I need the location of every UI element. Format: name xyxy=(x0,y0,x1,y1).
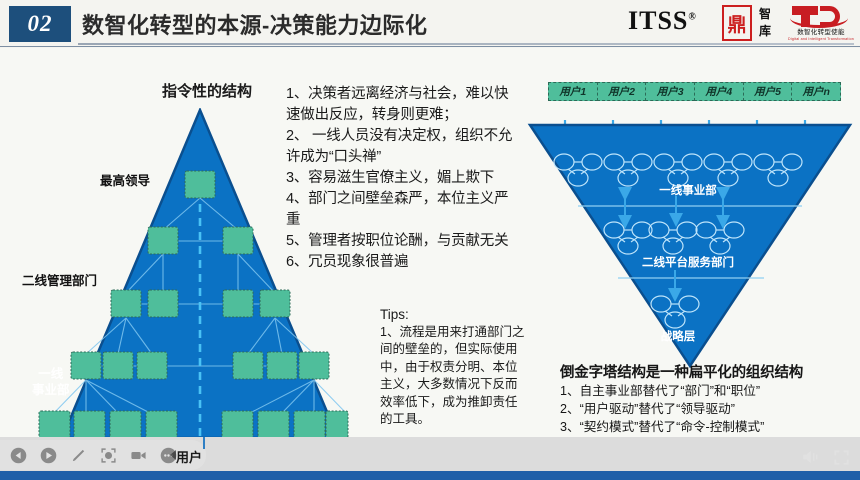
playhead-marker[interactable] xyxy=(203,437,205,449)
inverted-label-platform-service: 二线平台服务部门 xyxy=(608,254,768,270)
td-logo: 数智化转型使能 Digital and Intelligent Transfor… xyxy=(788,4,854,44)
zhiku-char-bottom: 库 xyxy=(759,23,771,40)
user-box: 用户2 xyxy=(597,82,647,101)
player-right-controls[interactable] xyxy=(801,448,850,466)
user-box: 用户n xyxy=(791,82,841,101)
td-logo-cn-text: 数智化转型使能 xyxy=(788,29,854,37)
pyramid-node xyxy=(233,352,263,379)
problem-list: 1、决策者远离经济与社会，难以快速做出反应，转身则更难； 2、 一线人员没有决定… xyxy=(286,84,518,273)
pyramid-node xyxy=(326,411,348,438)
video-progress-bar[interactable] xyxy=(0,471,860,480)
itss-logo: ITSS® xyxy=(628,6,697,36)
users-row: 用户1 用户2 用户3 用户4 用户5 用户n xyxy=(548,82,840,101)
tips-heading: Tips: xyxy=(380,306,525,324)
pyramid-label-second-line-mgmt: 二线管理部门 xyxy=(22,270,97,289)
volume-icon[interactable] xyxy=(801,448,819,466)
pyramid-node xyxy=(148,227,178,254)
user-box: 用户5 xyxy=(743,82,793,101)
pyramid-node xyxy=(148,290,178,317)
description-heading: 倒金字塔结构是一种扁平化的组织结构 xyxy=(560,364,860,382)
screenshot-button[interactable] xyxy=(100,447,117,464)
problem-list-item: 5、管理者按职位论酬，与贡献无关 xyxy=(286,231,518,252)
zhiku-char-top: 智 xyxy=(759,6,771,23)
tips-block: Tips: 1、流程是用来打通部门之间的壁垒的，但实际使用中，由于权责分明、本位… xyxy=(380,306,525,429)
problem-list-item: 1、决策者远离经济与社会，难以快速做出反应，转身则更难； xyxy=(286,84,518,126)
pyramid-node xyxy=(185,171,215,198)
td-mark-icon xyxy=(788,4,854,29)
rewind-button[interactable] xyxy=(10,447,27,464)
pyramid-node xyxy=(111,290,141,317)
itss-logo-text: ITSS xyxy=(628,6,688,35)
inverted-label-strategy: 战略层 xyxy=(628,328,728,344)
problem-list-item: 6、冗员现象很普遍 xyxy=(286,252,518,273)
player-label: 用户 xyxy=(176,447,202,466)
pyramid-node xyxy=(222,411,253,438)
td-logo-en-text: Digital and Intelligent Transformation xyxy=(788,37,854,41)
pyramid-node xyxy=(223,227,253,254)
user-box: 用户3 xyxy=(645,82,695,101)
description-item: 2、“用户驱动”替代了“领导驱动” xyxy=(560,400,860,418)
record-button[interactable] xyxy=(130,447,147,464)
page-title: 数智化转型的本源-决策能力边际化 xyxy=(82,8,427,40)
pyramid-node xyxy=(258,411,289,438)
description-item: 1、自主事业部替代了“部门”和“职位” xyxy=(560,382,860,400)
seal-icon: 鼎 xyxy=(722,5,752,41)
registered-mark-icon: ® xyxy=(688,11,696,22)
pyramid-node xyxy=(294,411,325,438)
inverted-label-frontline: 一线事业部 xyxy=(628,182,748,198)
pyramid-label-frontline-line1: 一线 xyxy=(32,366,70,382)
pyramid-node xyxy=(223,290,253,317)
play-button[interactable] xyxy=(40,447,57,464)
slide-screenshot: 02 数智化转型的本源-决策能力边际化 ITSS® 鼎 智 库 数智化转型使能 … xyxy=(0,0,860,480)
pyramid-node xyxy=(267,352,297,379)
header-divider-secondary xyxy=(0,46,860,47)
description-item: 3、“契约模式”替代了“命令-控制模式” xyxy=(560,418,860,436)
pyramid-label-frontline-line2: 事业部 xyxy=(32,382,70,398)
pyramid-node xyxy=(103,352,133,379)
inverted-pyramid-diagram: 一线事业部 二线平台服务部门 战略层 xyxy=(520,120,860,370)
problem-list-item: 3、容易滋生官僚主义，媚上欺下 xyxy=(286,168,518,189)
problem-list-item: 2、 一线人员没有决定权，组织不允许成为“口头禅” xyxy=(286,126,518,168)
user-box: 用户4 xyxy=(694,82,744,101)
zhiku-logo: 鼎 智 库 xyxy=(722,5,780,41)
pyramid-level-1 xyxy=(185,171,215,198)
pyramid-node xyxy=(299,352,329,379)
pyramid-node xyxy=(71,352,101,379)
pyramid-node xyxy=(260,290,290,317)
zhiku-logo-text: 智 库 xyxy=(752,5,778,41)
slide-number-badge: 02 xyxy=(9,6,71,42)
pyramid-node xyxy=(39,411,70,438)
pyramid-label-top-leader: 最高领导 xyxy=(100,170,150,189)
user-box: 用户1 xyxy=(548,82,598,101)
problem-list-item: 4、部门之间壁垒森严，本位主义严重 xyxy=(286,189,518,231)
pen-button[interactable] xyxy=(70,447,87,464)
left-diagram-title: 指令性的结构 xyxy=(162,80,252,101)
fullscreen-icon[interactable] xyxy=(833,449,850,466)
pyramid-node xyxy=(74,411,105,438)
pyramid-node xyxy=(146,411,177,438)
pyramid-node xyxy=(110,411,141,438)
pyramid-label-frontline: 一线 事业部 xyxy=(32,366,70,398)
slide-header: 02 数智化转型的本源-决策能力边际化 ITSS® 鼎 智 库 数智化转型使能 … xyxy=(0,0,860,48)
tips-body: 1、流程是用来打通部门之间的壁垒的，但实际使用中，由于权责分明、本位主义，大多数… xyxy=(380,324,525,429)
header-divider xyxy=(78,43,854,45)
pyramid-node xyxy=(137,352,167,379)
